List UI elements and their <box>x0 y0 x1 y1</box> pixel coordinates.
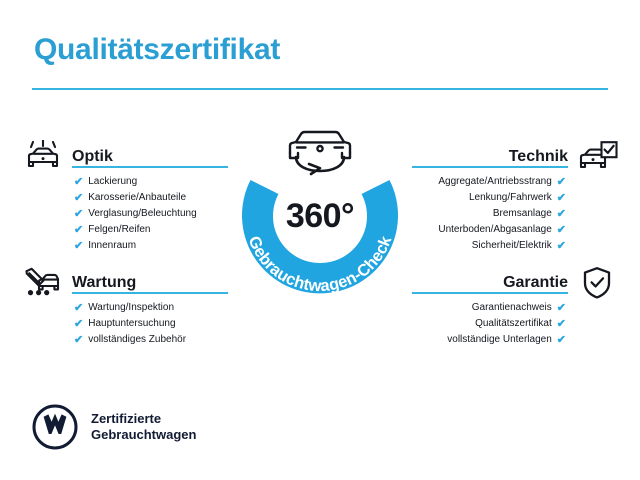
list-item: ✔vollständiges Zubehör <box>74 332 228 348</box>
certificate-page: Qualitätszertifikat <box>0 0 640 480</box>
car-shine-icon <box>22 140 64 174</box>
list-item: Aggregate/Antriebsstrang✔ <box>412 174 566 190</box>
section-garantie-title: Garantie <box>503 274 568 292</box>
section-technik-list: Aggregate/Antriebsstrang✔ Lenkung/Fahrwe… <box>412 174 566 254</box>
list-item-label: Aggregate/Antriebsstrang <box>438 174 551 190</box>
list-item-label: Verglasung/Beleuchtung <box>88 206 196 222</box>
list-item: Garantienachweis✔ <box>412 300 566 316</box>
list-item-label: Wartung/Inspektion <box>88 300 174 316</box>
check-icon: ✔ <box>74 225 83 236</box>
section-optik-list: ✔Lackierung ✔Karosserie/Anbauteile ✔Verg… <box>74 174 228 254</box>
list-item-label: Sicherheit/Elektrik <box>472 238 552 254</box>
section-technik-header: Technik <box>412 142 614 168</box>
section-wartung-title: Wartung <box>72 274 136 292</box>
volkswagen-logo <box>32 404 78 450</box>
list-item: ✔Innenraum <box>74 238 228 254</box>
list-item-label: Hauptuntersuchung <box>88 316 175 332</box>
list-item: Unterboden/Abgasanlage✔ <box>412 222 566 238</box>
list-item-label: Garantienachweis <box>472 300 552 316</box>
check-icon: ✔ <box>557 225 566 236</box>
check-icon: ✔ <box>74 335 83 346</box>
section-garantie: Garantie Garantienachweis✔ Qualitätszert… <box>412 268 614 348</box>
section-wartung-divider <box>72 292 228 294</box>
list-item-label: Qualitätszertifikat <box>475 316 552 332</box>
list-item: ✔Hauptuntersuchung <box>74 316 228 332</box>
list-item: ✔Karosserie/Anbauteile <box>74 190 228 206</box>
list-item: Qualitätszertifikat✔ <box>412 316 566 332</box>
section-optik-header: Optik <box>26 142 228 168</box>
list-item-label: Bremsanlage <box>493 206 552 222</box>
car-service-tool-icon <box>22 266 64 300</box>
page-title: Qualitätszertifikat <box>34 33 280 67</box>
check-icon: ✔ <box>557 193 566 204</box>
section-technik-title: Technik <box>509 148 568 166</box>
check-icon: ✔ <box>74 177 83 188</box>
section-technik-divider <box>412 166 568 168</box>
list-item: ✔Wartung/Inspektion <box>74 300 228 316</box>
check-icon: ✔ <box>557 209 566 220</box>
section-optik-title: Optik <box>72 148 113 166</box>
section-wartung: Wartung ✔Wartung/Inspektion ✔Hauptunters… <box>26 268 228 348</box>
list-item: ✔Felgen/Reifen <box>74 222 228 238</box>
section-technik: Technik Aggregate/Antriebsstrang✔ Lenkun… <box>412 142 614 254</box>
check-icon: ✔ <box>557 335 566 346</box>
section-wartung-header: Wartung <box>26 268 228 294</box>
list-item: Sicherheit/Elektrik✔ <box>412 238 566 254</box>
footer-brand-text: Zertifizierte Gebrauchtwagen <box>91 411 196 443</box>
check-icon: ✔ <box>74 303 83 314</box>
list-item-label: Felgen/Reifen <box>88 222 150 238</box>
car-rotate-icon <box>290 132 350 174</box>
section-wartung-list: ✔Wartung/Inspektion ✔Hauptuntersuchung ✔… <box>74 300 228 348</box>
check-icon: ✔ <box>557 177 566 188</box>
badge-arc <box>242 180 398 293</box>
list-item: ✔Verglasung/Beleuchtung <box>74 206 228 222</box>
check-icon: ✔ <box>557 241 566 252</box>
check-icon: ✔ <box>74 209 83 220</box>
check-icon: ✔ <box>557 319 566 330</box>
footer-brand: Zertifizierte Gebrauchtwagen <box>32 404 196 450</box>
list-item-label: Unterboden/Abgasanlage <box>438 222 551 238</box>
list-item-label: Lenkung/Fahrwerk <box>469 190 552 206</box>
list-item-label: Innenraum <box>88 238 136 254</box>
section-optik: Optik ✔Lackierung ✔Karosserie/Anbauteile… <box>26 142 228 254</box>
check-icon: ✔ <box>74 193 83 204</box>
list-item: Bremsanlage✔ <box>412 206 566 222</box>
section-garantie-header: Garantie <box>412 268 614 294</box>
check-icon: ✔ <box>74 319 83 330</box>
list-item-label: Karosserie/Anbauteile <box>88 190 186 206</box>
list-item-label: Lackierung <box>88 174 137 190</box>
check-icon: ✔ <box>74 241 83 252</box>
list-item: ✔Lackierung <box>74 174 228 190</box>
list-item: Lenkung/Fahrwerk✔ <box>412 190 566 206</box>
list-item: vollständige Unterlagen✔ <box>412 332 566 348</box>
car-checkbox-icon <box>576 140 618 174</box>
list-item-label: vollständiges Zubehör <box>88 332 186 348</box>
list-item-label: vollständige Unterlagen <box>447 332 552 348</box>
title-divider <box>32 88 608 90</box>
section-garantie-divider <box>412 292 568 294</box>
section-garantie-list: Garantienachweis✔ Qualitätszertifikat✔ v… <box>412 300 566 348</box>
section-optik-divider <box>72 166 228 168</box>
badge-360-gebrauchtwagen-check: Gebrauchtwagen-Check 360° <box>222 118 418 314</box>
shield-check-icon <box>576 266 618 300</box>
check-icon: ✔ <box>557 303 566 314</box>
